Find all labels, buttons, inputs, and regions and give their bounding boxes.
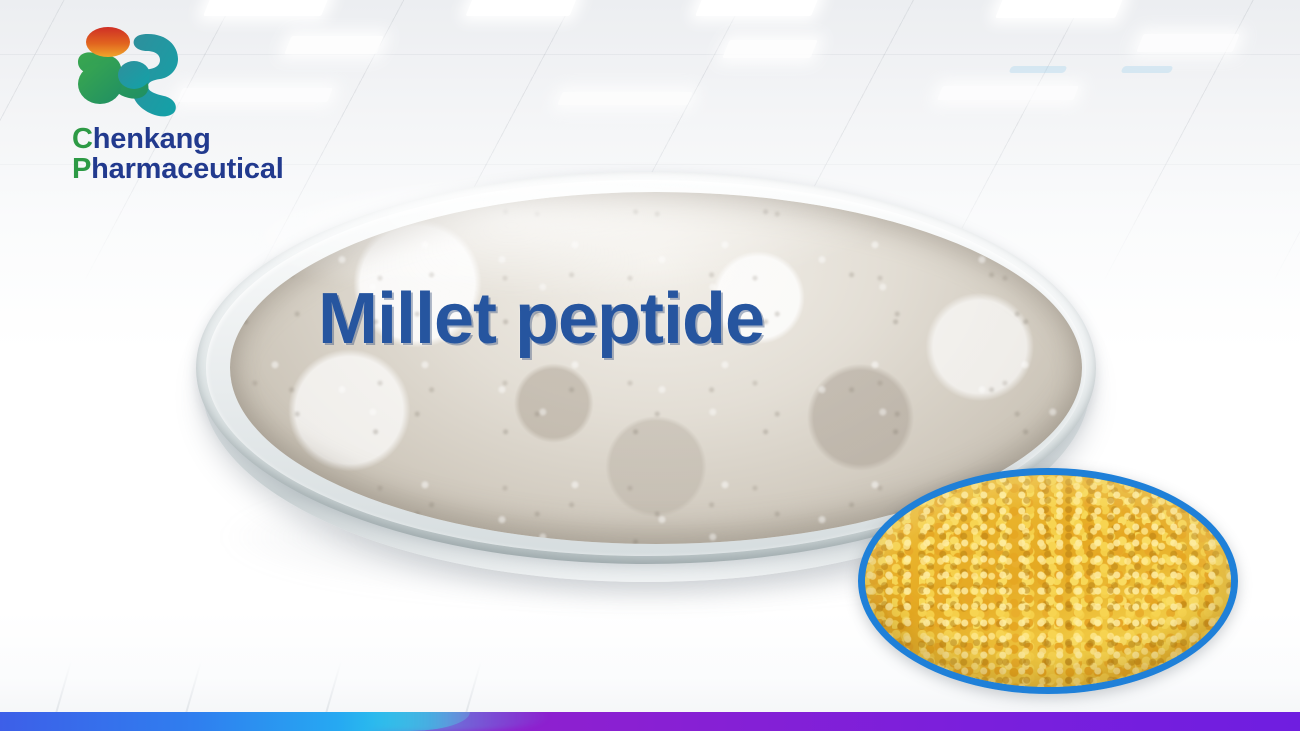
brand-initial-p: P xyxy=(72,153,91,185)
ceiling-light-panel xyxy=(203,0,331,16)
millet-shading xyxy=(865,475,1231,687)
ceiling-light-panel xyxy=(722,40,817,58)
molecule-logo-icon xyxy=(72,26,180,118)
ceiling-light-panel xyxy=(937,86,1079,100)
millet-grains-inset xyxy=(858,468,1238,694)
ceiling-light-panel xyxy=(695,0,821,16)
footer-color-bar xyxy=(0,712,1300,731)
brand-initial-c: C xyxy=(72,123,93,155)
brand-name: Chenkang Pharmaceutical xyxy=(72,124,412,184)
footer-bar-blue xyxy=(0,712,470,731)
ceiling-light-panel xyxy=(557,92,692,105)
ceiling-panel-tint xyxy=(1121,66,1174,73)
brand-name-line2: Pharmaceutical xyxy=(72,154,412,184)
page-title: Millet peptide xyxy=(318,278,764,360)
product-banner: Millet peptide xyxy=(0,0,1300,731)
ceiling-panel-tint xyxy=(1009,66,1068,73)
brand-name-line2-rest: harmaceutical xyxy=(91,153,283,185)
ceiling-light-panel xyxy=(995,0,1125,18)
brand-logo[interactable]: Chenkang Pharmaceutical xyxy=(72,26,412,184)
ceiling-light-panel xyxy=(1136,34,1239,52)
brand-name-line1: Chenkang xyxy=(72,124,412,154)
brand-name-line1-rest: henkang xyxy=(93,123,211,155)
ceiling-light-panel xyxy=(466,0,579,16)
